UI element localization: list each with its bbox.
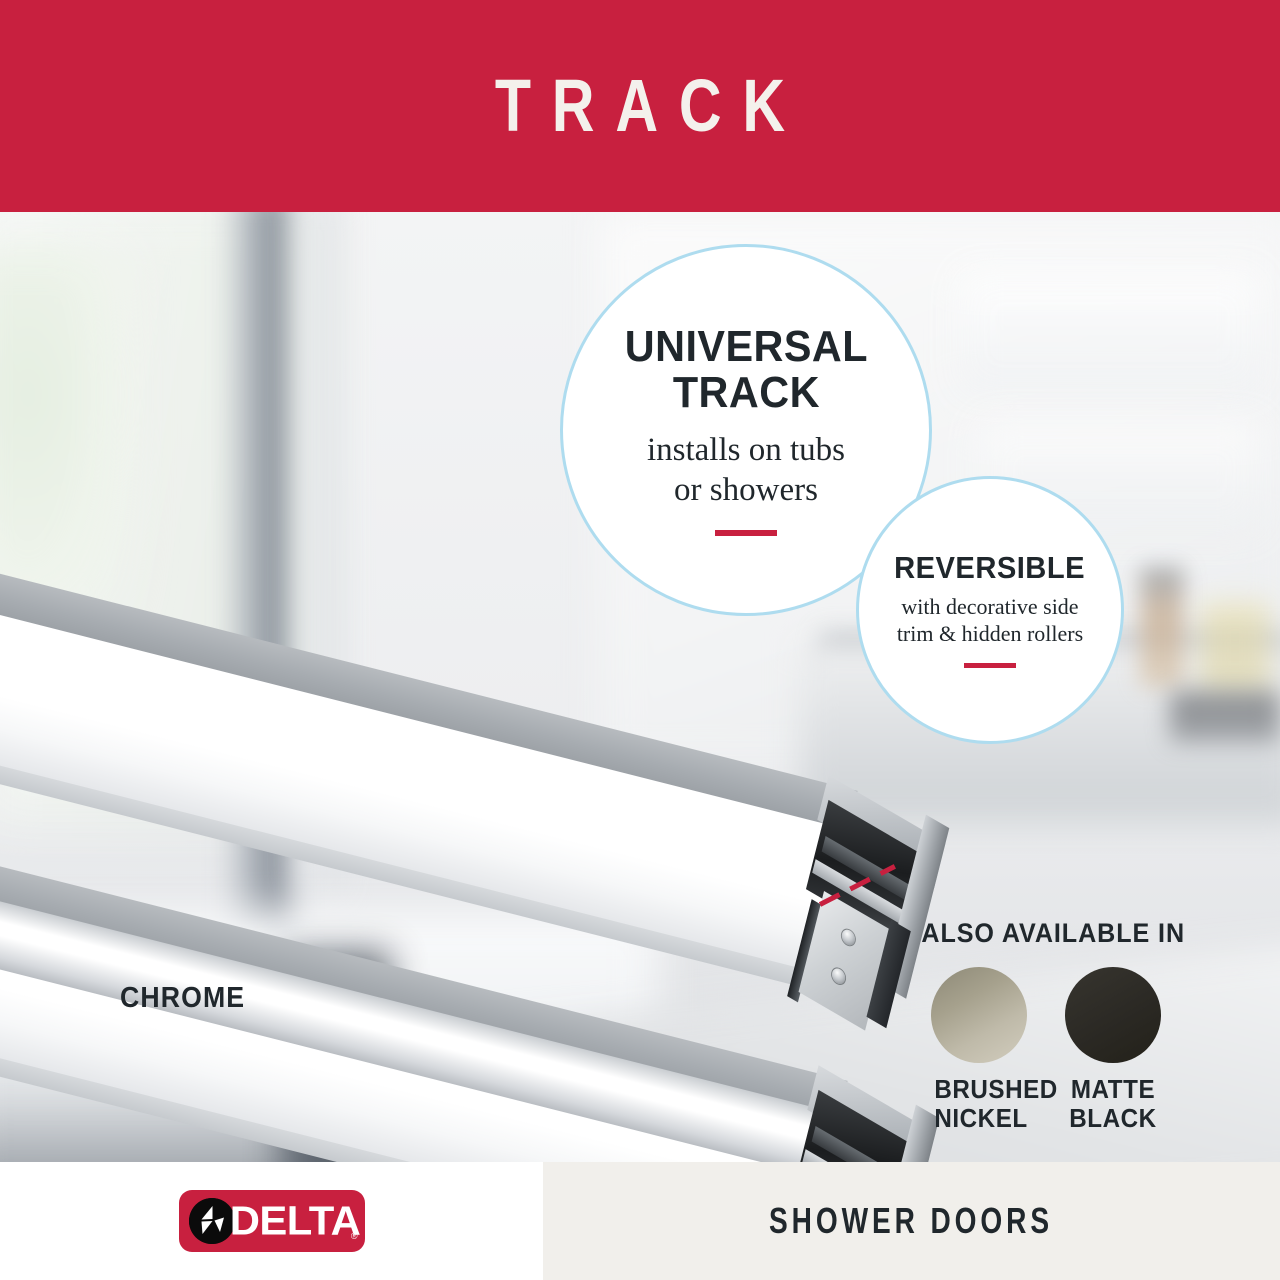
- bracket-screw-hole: [840, 927, 856, 948]
- callout-rule: [715, 530, 777, 536]
- background-shelf-upper: [960, 272, 1260, 392]
- callout-subtext-reversible: with decorative side trim & hidden rolle…: [897, 594, 1083, 648]
- callout-headline-universal-track: UNIVERSAL TRACK: [624, 324, 867, 416]
- footer-category-area: SHOWER DOORS: [543, 1162, 1280, 1280]
- bracket-screw-hole: [831, 966, 847, 987]
- registered-trademark-icon: ®: [351, 1231, 358, 1241]
- finish-label-chrome: CHROME: [120, 982, 245, 1015]
- product-marketing-image: TRACK: [0, 0, 1280, 1280]
- swatch-label-matte-black: MATTE BLACK: [1068, 1075, 1157, 1133]
- callout-subtext-line2: trim & hidden rollers: [897, 621, 1083, 648]
- background-towel: [1200, 602, 1270, 692]
- delta-wordmark: DELTA: [229, 1201, 360, 1242]
- callout-subtext-line2: or showers: [647, 470, 845, 510]
- callout-headline-reversible: REVERSIBLE: [895, 552, 1086, 584]
- callout-subtext-universal-track: installs on tubs or showers: [647, 430, 845, 511]
- swatch-label-line1: BRUSHED: [934, 1075, 1023, 1104]
- swatch-label-line1: MATTE: [1068, 1075, 1157, 1104]
- callout-subtext-line1: installs on tubs: [647, 430, 845, 470]
- swatch-row: BRUSHED NICKEL MATTE BLACK: [912, 967, 1180, 1133]
- swatch-label-brushed-nickel: BRUSHED NICKEL: [934, 1075, 1023, 1133]
- callout-headline-line2: TRACK: [624, 370, 867, 416]
- footer-brand-area: DELTA ®: [0, 1162, 543, 1280]
- background-bowl: [1170, 692, 1280, 742]
- finish-option-brushed-nickel[interactable]: BRUSHED NICKEL: [931, 967, 1027, 1133]
- footer-category-label: SHOWER DOORS: [770, 1200, 1054, 1242]
- swatch-matte-black[interactable]: [1065, 967, 1161, 1063]
- delta-triangle-icon: [189, 1198, 235, 1244]
- swatch-brushed-nickel[interactable]: [931, 967, 1027, 1063]
- callout-headline-line1: UNIVERSAL: [624, 324, 867, 370]
- header-banner: TRACK: [0, 0, 1280, 212]
- also-available-section: ALSO AVAILABLE IN BRUSHED NICKEL MATTE B…: [912, 918, 1180, 1133]
- footer: DELTA ® SHOWER DOORS: [0, 1162, 1280, 1280]
- swatch-label-line2: NICKEL: [934, 1104, 1023, 1133]
- background-window-foliage: [0, 242, 130, 622]
- finish-option-matte-black[interactable]: MATTE BLACK: [1065, 967, 1161, 1133]
- callout-subtext-line1: with decorative side: [897, 594, 1083, 621]
- callout-rule: [964, 663, 1016, 668]
- callout-reversible: REVERSIBLE with decorative side trim & h…: [856, 476, 1124, 744]
- background-bottle: [1140, 567, 1184, 687]
- page-title: TRACK: [128, 69, 1152, 143]
- swatch-label-line2: BLACK: [1068, 1104, 1157, 1133]
- delta-logo: DELTA ®: [179, 1190, 365, 1252]
- also-available-title: ALSO AVAILABLE IN: [921, 918, 1170, 949]
